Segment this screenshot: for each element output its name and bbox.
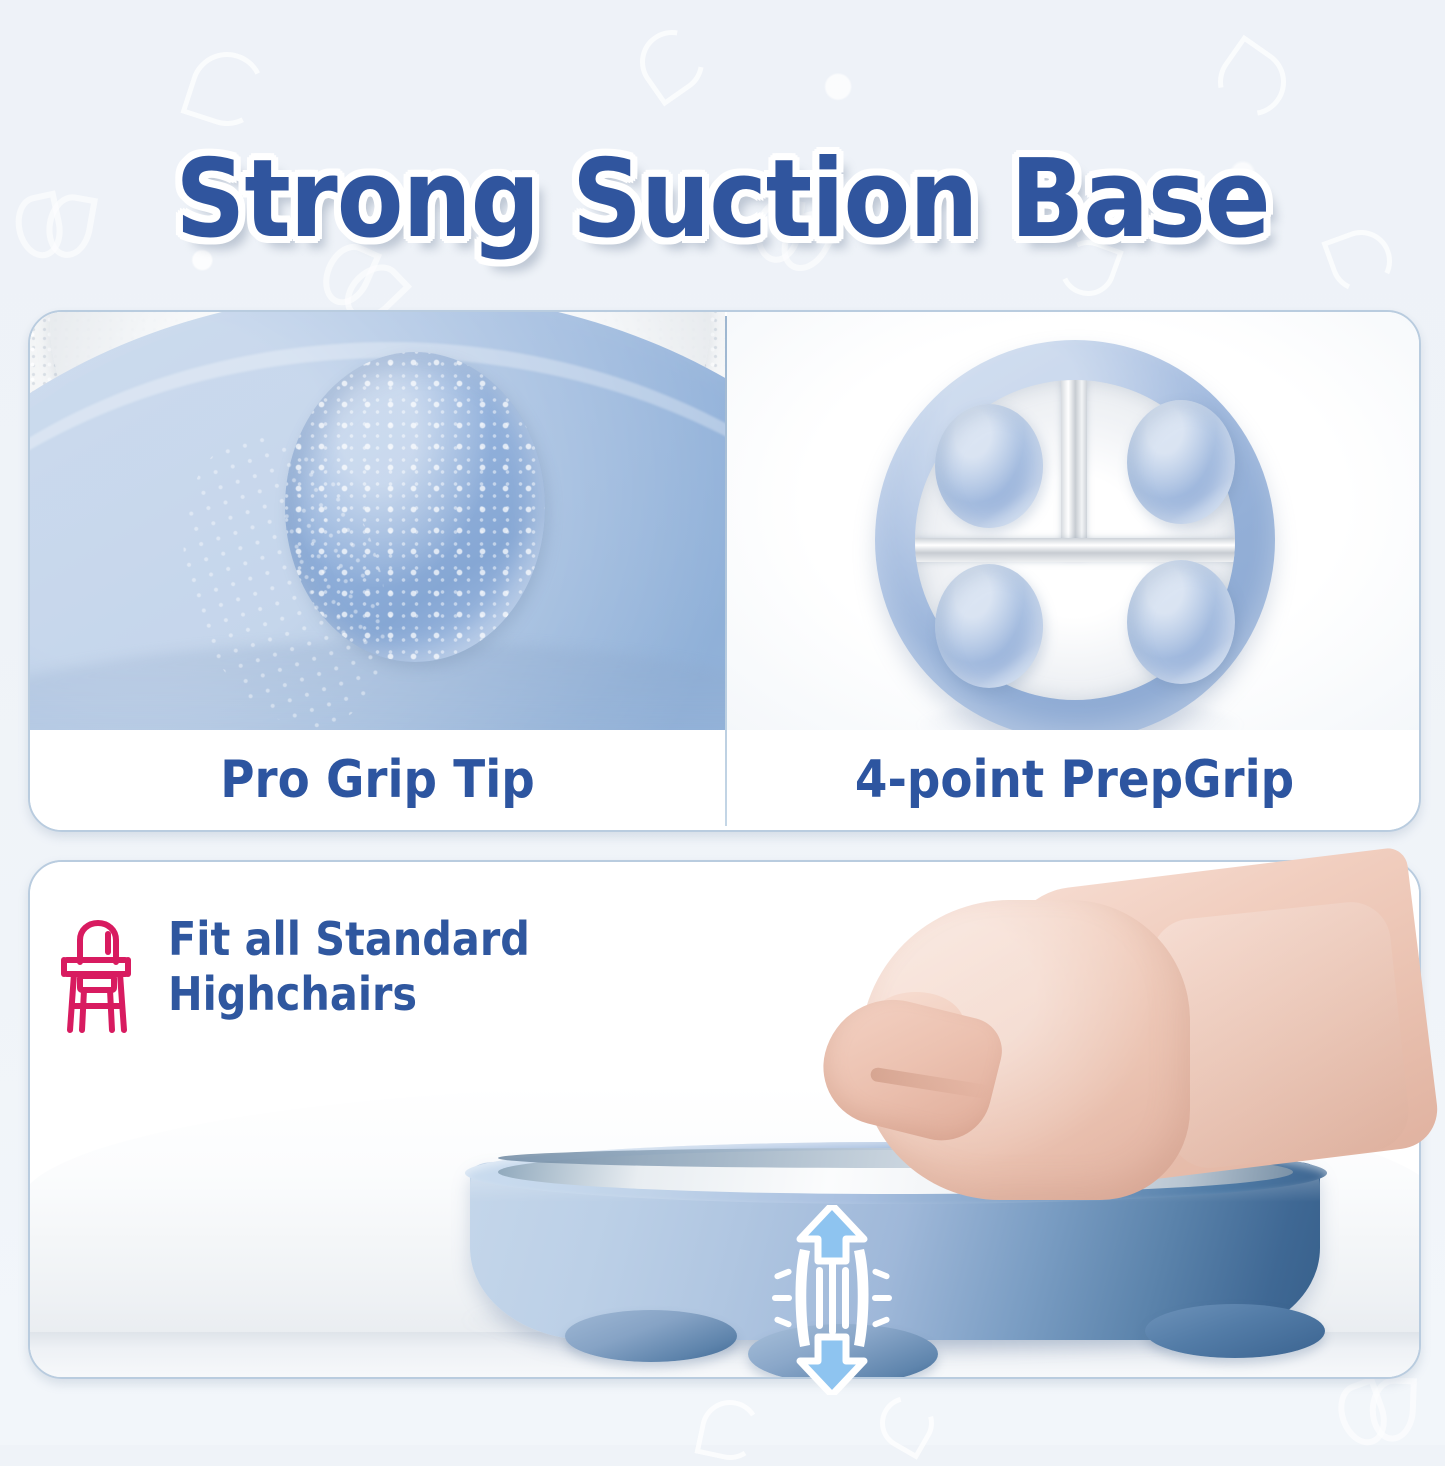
suction-foot-right: [1145, 1304, 1325, 1358]
feature-label: Fit all Standard Highchairs: [168, 912, 530, 1022]
tick-mark: [774, 1316, 793, 1328]
suction-cup-macro-photo: [30, 312, 725, 732]
highchair-icon: [58, 918, 144, 1039]
suction-bracket-left: [796, 1249, 811, 1347]
suction-foot-left: [565, 1310, 737, 1362]
tick-mark: [774, 1268, 793, 1280]
tick-mark: [872, 1268, 891, 1280]
suction-cup-top-right: [1127, 400, 1235, 524]
motion-line: [842, 1267, 849, 1329]
decorative-swirl: [1205, 35, 1300, 130]
suction-cup-top-left: [935, 404, 1043, 528]
feature-label-line1: Fit all Standard: [168, 912, 530, 966]
motion-line: [816, 1267, 823, 1329]
features-card-top: Pro Grip Tip 4-point PrepGrip: [28, 310, 1421, 832]
decorative-swirl: [627, 17, 716, 106]
caption-pro-grip-tip: Pro Grip Tip: [30, 730, 725, 830]
decorative-swirl: [694, 1394, 765, 1465]
decorative-swirl: [870, 1386, 944, 1460]
tick-mark: [772, 1295, 792, 1301]
tick-mark: [872, 1295, 892, 1301]
up-down-suction-arrows-icon: [772, 1205, 892, 1395]
hand-gripping-bowl: [830, 880, 1410, 1300]
suction-bracket-right: [854, 1249, 869, 1347]
arrow-down-icon: [800, 1337, 864, 1395]
caption-four-point-prepgrip: 4-point PrepGrip: [727, 730, 1421, 830]
four-point-base-photo: [727, 312, 1421, 732]
tick-mark: [872, 1316, 891, 1328]
metal-rib-vertical: [1061, 380, 1087, 558]
suction-cup-bottom-right: [1127, 560, 1235, 684]
feature-label-line2: Highchairs: [168, 967, 417, 1021]
panel-four-point-prepgrip: 4-point PrepGrip: [727, 312, 1421, 830]
feature-fit-all-highchairs: Fit all Standard Highchairs: [58, 912, 618, 1039]
page-title: Strong Suction Base: [0, 146, 1445, 254]
motion-line: [829, 1261, 836, 1335]
decorative-swirl: [180, 42, 273, 135]
suction-cup-bottom-left: [935, 564, 1043, 688]
panel-pro-grip-tip: Pro Grip Tip: [30, 312, 725, 830]
metal-rib-horizontal: [915, 538, 1235, 562]
